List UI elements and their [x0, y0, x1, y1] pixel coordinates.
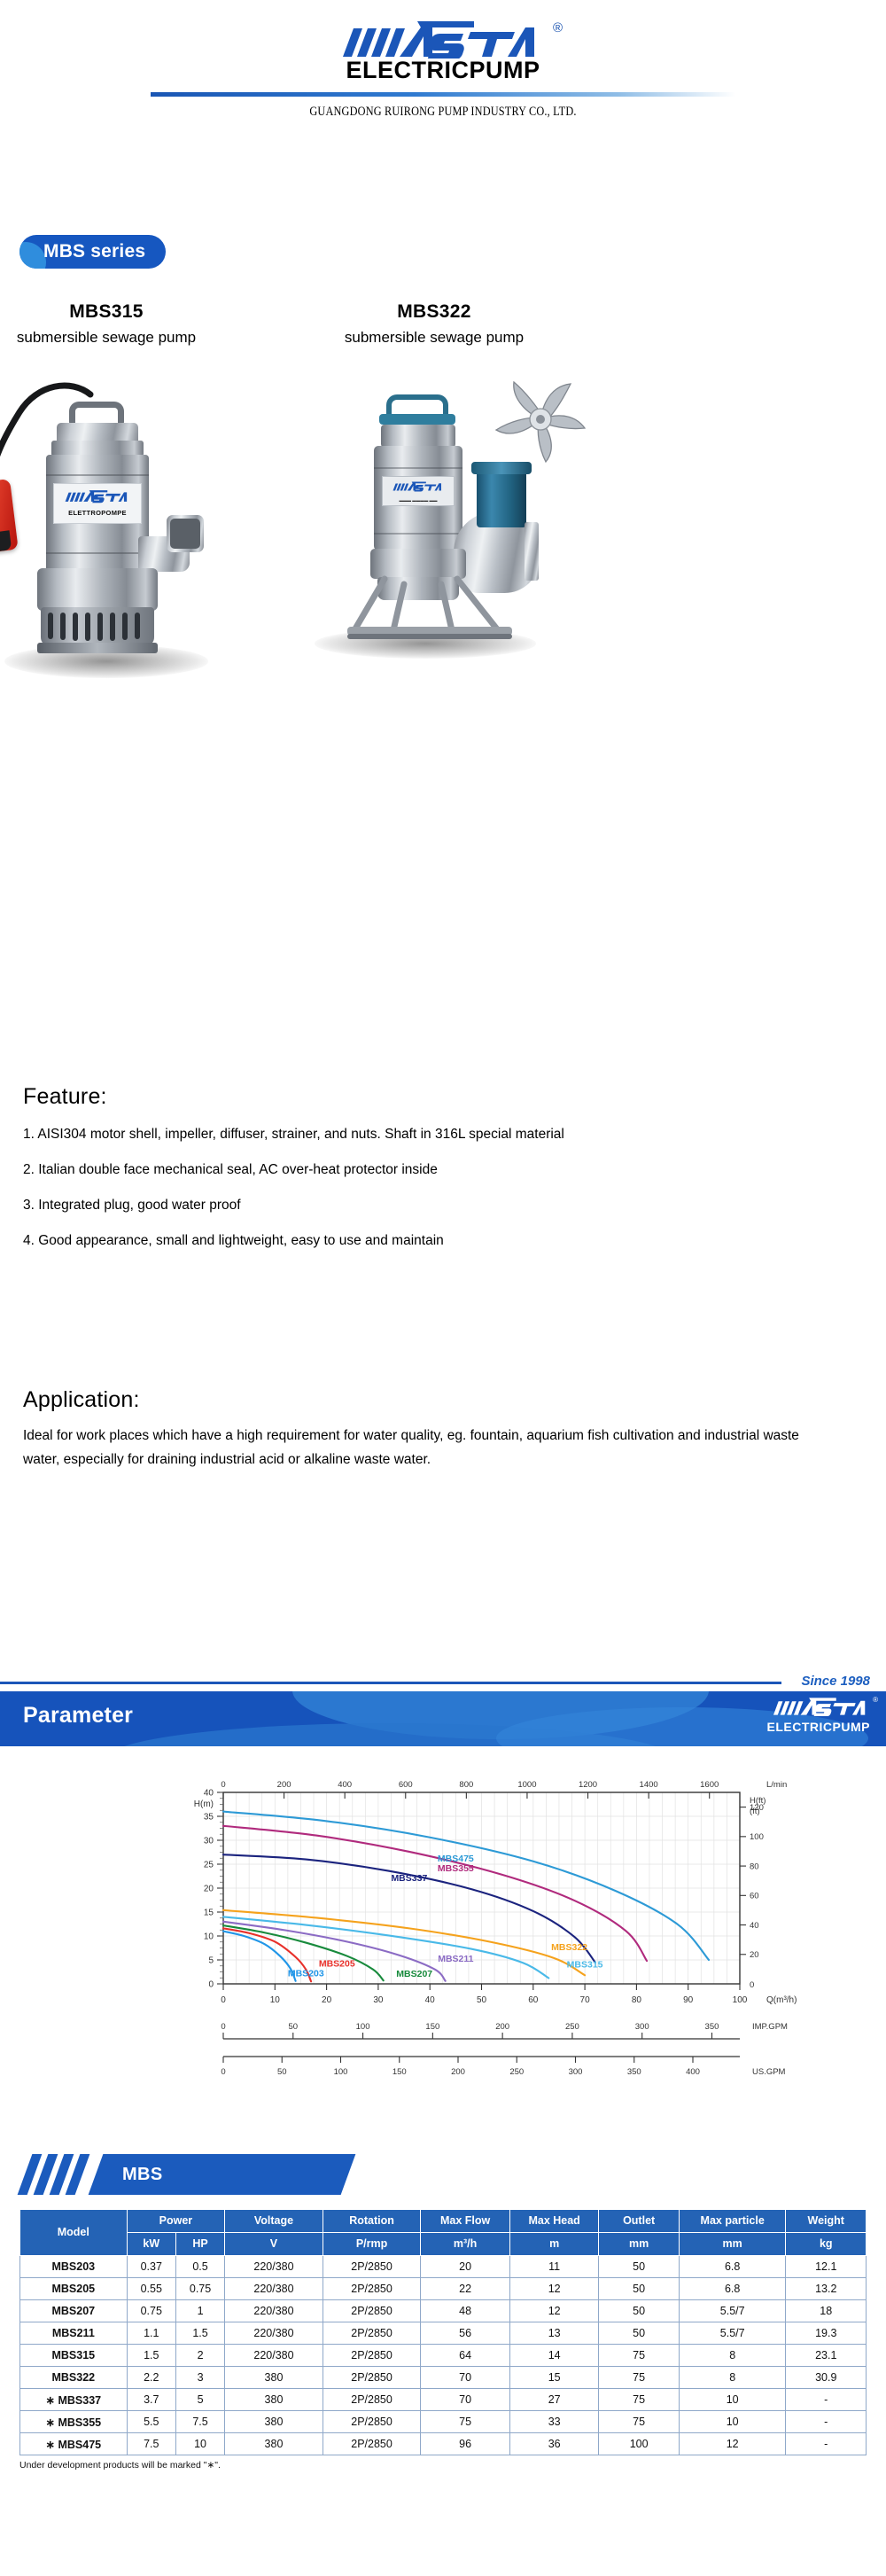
specs-table: ModelPowerVoltageRotationMax FlowMax Hea… [19, 2209, 867, 2455]
feature-item-1: 1. AISI304 motor shell, impeller, diffus… [23, 1123, 825, 1145]
table-cell: 2P/2850 [323, 2300, 421, 2322]
table-cell: 220/380 [225, 2256, 323, 2278]
carry-handle [69, 402, 124, 425]
table-cell: 70 [421, 2389, 510, 2411]
table-row: ∗ MBS4757.5103802P/2850963610012- [20, 2433, 867, 2455]
table-unit-header: m³/h [421, 2233, 510, 2256]
table-header-weight: Weight [786, 2210, 867, 2233]
chart-curve-mbs337 [223, 1854, 595, 1963]
table-header-model: Model [20, 2210, 128, 2256]
brand-subtitle: ELECTRICPUMP [341, 57, 545, 84]
table-cell: 7.5 [127, 2433, 175, 2455]
table-cell: 5.5 [127, 2411, 175, 2433]
table-cell-model: MBS203 [20, 2256, 128, 2278]
specs-table-wrapper: ModelPowerVoltageRotationMax FlowMax Hea… [19, 2209, 867, 2471]
table-cell: 56 [421, 2322, 510, 2345]
chart-label: US.GPM [752, 2067, 786, 2077]
registered-mark: ® [553, 21, 563, 35]
table-cell: 220/380 [225, 2322, 323, 2345]
table-cell: 8 [679, 2367, 786, 2389]
table-row: MBS2070.751220/3802P/28504812505.5/718 [20, 2300, 867, 2322]
chart-label: 0 [221, 2067, 225, 2077]
table-header-row-units: kWHPVP/rmpm³/hmmmmmkg [20, 2233, 867, 2256]
table-header-rotation: Rotation [323, 2210, 421, 2233]
table-cell: 380 [225, 2433, 323, 2455]
chart-label: 20 [204, 1884, 214, 1893]
chart-label: 100 [334, 2067, 348, 2077]
table-cell: 2P/2850 [323, 2433, 421, 2455]
table-header-max-head: Max Head [509, 2210, 599, 2233]
table-footnote: Under development products will be marke… [19, 2460, 867, 2471]
chart-label: 1600 [700, 1780, 719, 1790]
table-cell: 10 [679, 2411, 786, 2433]
specs-table-body: MBS2030.370.5220/3802P/28502011506.812.1… [20, 2256, 867, 2455]
table-cell: 2P/2850 [323, 2322, 421, 2345]
table-cell: 75 [599, 2345, 679, 2367]
application-text: Ideal for work places which have a high … [23, 1425, 825, 1471]
table-cell: 2P/2850 [323, 2278, 421, 2300]
table-cell: 36 [509, 2433, 599, 2455]
chart-label: 30 [373, 1995, 384, 2005]
table-cell: 13.2 [786, 2278, 867, 2300]
table-cell: 30.9 [786, 2367, 867, 2389]
table-cell: 64 [421, 2345, 510, 2367]
chart-series-label-mbs355: MBS355 [438, 1863, 474, 1874]
chart-label: 20 [322, 1995, 332, 2005]
table-unit-header: mm [599, 2233, 679, 2256]
chart-label: 300 [635, 2022, 649, 2032]
table-cell: 12 [509, 2278, 599, 2300]
chart-label: 400 [686, 2067, 700, 2077]
chart-label: 20 [750, 1950, 759, 1960]
since-label: Since 1998 [801, 1674, 870, 1689]
product-description: submersible sewage pump [0, 329, 275, 347]
strainer-slots-icon [41, 607, 154, 646]
table-cell-model: MBS322 [20, 2367, 128, 2389]
chart-label: Q(m³/h) [766, 1995, 797, 2005]
bail-base [379, 414, 455, 425]
product-image-mbs315: ELETTROPOMPE [0, 363, 275, 691]
table-cell: 19.3 [786, 2322, 867, 2345]
application-section: Application: Ideal for work places which… [23, 1387, 865, 1471]
table-cell-model: MBS205 [20, 2278, 128, 2300]
nameplate-lines: ▬▬▬ ▬▬▬▬ ▬▬ [383, 498, 454, 503]
motor-cap [57, 423, 138, 442]
table-cell: 50 [599, 2256, 679, 2278]
chart-series-label-mbs211: MBS211 [438, 1954, 473, 1964]
table-cell: 7.5 [175, 2411, 224, 2433]
table-cell: - [786, 2433, 867, 2455]
table-unit-header: kW [127, 2233, 175, 2256]
table-cell: 5.5/7 [679, 2322, 786, 2345]
table-cell: 5.5/7 [679, 2300, 786, 2322]
mastra-logo-icon [341, 20, 545, 59]
table-cell: 75 [599, 2411, 679, 2433]
chart-label: 5 [208, 1955, 214, 1965]
chart-label: (ft) [750, 1807, 760, 1816]
table-cell: 50 [599, 2322, 679, 2345]
table-cell: 10 [175, 2433, 224, 2455]
table-cell: - [786, 2389, 867, 2411]
discharge-flange [471, 462, 532, 474]
table-cell: 1 [175, 2300, 224, 2322]
table-row: MBS2111.11.5220/3802P/28505613505.5/719.… [20, 2322, 867, 2345]
product-label-plate: ▬▬▬ ▬▬▬▬ ▬▬ [382, 476, 455, 506]
table-unit-header: V [225, 2233, 323, 2256]
housing-seam-lower [374, 533, 462, 535]
table-cell: 10 [679, 2389, 786, 2411]
table-cell: 12 [679, 2433, 786, 2455]
chart-curve-mbs203 [223, 1932, 296, 1981]
table-header-power: Power [127, 2210, 225, 2233]
table-cell: 380 [225, 2411, 323, 2433]
table-cell: 6.8 [679, 2256, 786, 2278]
chart-series-label-mbs337: MBS337 [391, 1873, 427, 1884]
parameter-title: Parameter [23, 1703, 133, 1729]
series-badge: MBS series [19, 235, 166, 269]
table-cell: 0.37 [127, 2256, 175, 2278]
chart-label: 30 [204, 1836, 214, 1846]
housing-seam-lower [46, 552, 149, 554]
banner-logo: ® ELECTRICPUMP [767, 1697, 870, 1734]
chart-label: 70 [580, 1995, 591, 2005]
table-cell: 75 [421, 2411, 510, 2433]
product-label-plate: ELETTROPOMPE [53, 483, 142, 524]
table-header-row-groups: ModelPowerVoltageRotationMax FlowMax Hea… [20, 2210, 867, 2233]
table-cell: 48 [421, 2300, 510, 2322]
table-row: MBS2050.550.75220/3802P/28502212506.813.… [20, 2278, 867, 2300]
tag-stripes-icon [19, 2154, 90, 2195]
since-row: Since 1998 [0, 1674, 886, 1688]
table-cell: 70 [421, 2367, 510, 2389]
table-cell-model: ∗ MBS337 [20, 2389, 128, 2411]
table-row: ∗ MBS3373.753802P/285070277510- [20, 2389, 867, 2411]
table-cell: 14 [509, 2345, 599, 2367]
table-cell: 5 [175, 2389, 224, 2411]
table-section-tag: MBS [19, 2154, 374, 2195]
table-cell: 2P/2850 [323, 2389, 421, 2411]
table-header-voltage: Voltage [225, 2210, 323, 2233]
table-cell: 15 [509, 2367, 599, 2389]
table-cell: 1.5 [175, 2322, 224, 2345]
chart-label: 150 [425, 2022, 439, 2032]
chart-label: 40 [425, 1995, 436, 2005]
banner-logo-sub: ELECTRICPUMP [767, 1720, 870, 1734]
chart-label: IMP.GPM [752, 2022, 788, 2032]
chart-label: 400 [338, 1780, 352, 1790]
since-divider [0, 1682, 781, 1684]
performance-curve-svg: 02004006008001000120014001600L/min051015… [0, 1755, 886, 2083]
chart-label: 0 [221, 1780, 225, 1790]
feature-item-3: 3. Integrated plug, good water proof [23, 1194, 825, 1216]
performance-chart: 02004006008001000120014001600L/min051015… [0, 1755, 886, 2083]
product-card-mbs322: MBS322 submersible sewage pump [266, 301, 602, 691]
impeller-icon [487, 375, 594, 464]
chart-label: 25 [204, 1860, 214, 1870]
table-cell: 0.75 [127, 2300, 175, 2322]
base-ring [37, 643, 158, 653]
chart-label: 600 [399, 1780, 413, 1790]
outlet-bore [170, 519, 200, 549]
chart-series-label-mbs207: MBS207 [396, 1969, 432, 1979]
table-cell: 18 [786, 2300, 867, 2322]
chart-label: 35 [204, 1812, 214, 1822]
label-mastra-logo-icon [65, 488, 130, 503]
table-cell-model: MBS207 [20, 2300, 128, 2322]
company-name: GUANGDONG RUIRONG PUMP INDUSTRY CO., LTD… [80, 105, 806, 120]
table-cell: 220/380 [225, 2300, 323, 2322]
table-header-max-particle: Max particle [679, 2210, 786, 2233]
chart-label: 80 [750, 1862, 759, 1871]
motor-cap [381, 425, 455, 448]
specs-table-head: ModelPowerVoltageRotationMax FlowMax Hea… [20, 2210, 867, 2256]
chart-label: 200 [451, 2067, 465, 2077]
chart-label: 100 [750, 1832, 764, 1842]
product-model: MBS322 [266, 301, 602, 323]
table-cell-model: ∗ MBS475 [20, 2433, 128, 2455]
table-cell: 33 [509, 2411, 599, 2433]
table-row: MBS2030.370.5220/3802P/28502011506.812.1 [20, 2256, 867, 2278]
chart-label: 10 [270, 1995, 281, 2005]
table-header-max-flow: Max Flow [421, 2210, 510, 2233]
banner-registered-mark: ® [873, 1696, 878, 1704]
table-cell: 0.55 [127, 2278, 175, 2300]
chart-series-label-mbs205: MBS205 [319, 1959, 355, 1970]
chart-label: L/min [766, 1780, 787, 1790]
table-cell: 100 [599, 2433, 679, 2455]
housing-seam [374, 467, 462, 469]
table-unit-header: P/rmp [323, 2233, 421, 2256]
table-cell: 6.8 [679, 2278, 786, 2300]
chart-label: 0 [750, 1980, 754, 1990]
chart-series-label-mbs203: MBS203 [288, 1968, 324, 1979]
banner-mastra-logo-icon [773, 1697, 870, 1716]
table-cell: 380 [225, 2389, 323, 2411]
table-unit-header: m [509, 2233, 599, 2256]
chart-label: 250 [509, 2067, 524, 2077]
table-row: MBS3222.233802P/2850701575830.9 [20, 2367, 867, 2389]
chart-label: 350 [705, 2022, 719, 2032]
series-badge-label: MBS series [19, 235, 166, 269]
feature-section: Feature: 1. AISI304 motor shell, impelle… [23, 1084, 865, 1252]
chart-label: 100 [356, 2022, 370, 2032]
chart-curve-mbs355 [223, 1826, 647, 1961]
feature-title: Feature: [23, 1084, 865, 1110]
table-cell: 22 [421, 2278, 510, 2300]
chart-label: 50 [477, 1995, 487, 2005]
chart-label: 300 [569, 2067, 583, 2077]
table-cell: 50 [599, 2278, 679, 2300]
table-cell: 2P/2850 [323, 2256, 421, 2278]
table-cell: 50 [599, 2300, 679, 2322]
table-cell: 2P/2850 [323, 2345, 421, 2367]
chart-label: 0 [221, 2022, 225, 2032]
lifting-bail [386, 394, 448, 416]
table-cell: 2 [175, 2345, 224, 2367]
table-row: MBS3151.52220/3802P/2850641475823.1 [20, 2345, 867, 2367]
chart-label: 200 [277, 1780, 291, 1790]
chart-label: 1400 [640, 1780, 658, 1790]
table-cell: 11 [509, 2256, 599, 2278]
chart-label: 150 [392, 2067, 407, 2077]
parameter-banner: Parameter ® ELECTRICPUMP [0, 1691, 886, 1746]
table-cell: 3.7 [127, 2389, 175, 2411]
brand-logo: ® ELECTRICPUMP [341, 20, 545, 84]
table-cell: 0.75 [175, 2278, 224, 2300]
product-model: MBS315 [0, 301, 275, 323]
pump-volute [37, 568, 158, 611]
table-cell: 1.5 [127, 2345, 175, 2367]
table-cell: 3 [175, 2367, 224, 2389]
table-cell: 20 [421, 2256, 510, 2278]
label-mastra-logo-icon [392, 480, 444, 492]
table-cell: 12.1 [786, 2256, 867, 2278]
table-cell: 220/380 [225, 2345, 323, 2367]
product-description: submersible sewage pump [266, 329, 602, 347]
chart-label: 350 [627, 2067, 641, 2077]
product-image-mbs322: ▬▬▬ ▬▬▬▬ ▬▬ [266, 363, 602, 691]
chart-label: H(ft) [750, 1796, 766, 1806]
label-sub-text: ELETTROPOMPE [54, 509, 141, 517]
table-unit-header: mm [679, 2233, 786, 2256]
chart-label: 0 [208, 1979, 214, 1989]
chart-label: 60 [750, 1892, 759, 1901]
chart-series-label-mbs315: MBS315 [567, 1960, 603, 1971]
table-cell: 2.2 [127, 2367, 175, 2389]
feature-item-4: 4. Good appearance, small and lightweigh… [23, 1229, 825, 1252]
chart-label: 200 [495, 2022, 509, 2032]
application-title: Application: [23, 1387, 865, 1413]
table-row: ∗ MBS3555.57.53802P/285075337510- [20, 2411, 867, 2433]
table-cell-model: MBS315 [20, 2345, 128, 2367]
chart-label: 1200 [579, 1780, 597, 1790]
table-cell: 13 [509, 2322, 599, 2345]
table-cell: 23.1 [786, 2345, 867, 2367]
suction-strainer [41, 607, 154, 646]
table-cell: 380 [225, 2367, 323, 2389]
table-unit-header: HP [175, 2233, 224, 2256]
chart-label: 50 [288, 2022, 298, 2032]
table-cell-model: MBS211 [20, 2322, 128, 2345]
chart-label: 50 [277, 2067, 287, 2077]
chart-label: H(m) [194, 1799, 214, 1809]
table-cell: 12 [509, 2300, 599, 2322]
product-card-mbs315: MBS315 submersible sewage pump [0, 301, 275, 691]
chart-series-label-mbs475: MBS475 [438, 1854, 474, 1864]
chart-label: 40 [204, 1788, 214, 1798]
housing-seam [46, 474, 149, 476]
table-cell: 220/380 [225, 2278, 323, 2300]
chart-label: 1000 [517, 1780, 536, 1790]
table-header-outlet: Outlet [599, 2210, 679, 2233]
chart-label: 10 [204, 1932, 214, 1941]
table-unit-header: kg [786, 2233, 867, 2256]
chart-label: 15 [204, 1908, 214, 1917]
chart-label: 800 [459, 1780, 473, 1790]
table-cell: 0.5 [175, 2256, 224, 2278]
chart-label: 100 [733, 1995, 748, 2005]
table-cell: 8 [679, 2345, 786, 2367]
chart-label: 60 [528, 1995, 539, 2005]
chart-series-label-mbs322: MBS322 [551, 1942, 587, 1953]
discharge-pipe [477, 469, 526, 527]
chart-label: 80 [632, 1995, 642, 2005]
chart-label: 40 [750, 1921, 759, 1931]
table-cell: 2P/2850 [323, 2411, 421, 2433]
support-stand-icon [342, 572, 555, 648]
chart-label: 0 [221, 1995, 226, 2005]
table-cell: 27 [509, 2389, 599, 2411]
table-cell: - [786, 2411, 867, 2433]
feature-item-2: 2. Italian double face mechanical seal, … [23, 1159, 825, 1181]
table-cell: 75 [599, 2389, 679, 2411]
table-cell: 96 [421, 2433, 510, 2455]
tag-label: MBS [122, 2154, 163, 2195]
table-cell: 2P/2850 [323, 2367, 421, 2389]
chart-label: 250 [565, 2022, 579, 2032]
table-cell-model: ∗ MBS355 [20, 2411, 128, 2433]
chart-label: 90 [683, 1995, 694, 2005]
table-cell: 75 [599, 2367, 679, 2389]
table-cell: 1.1 [127, 2322, 175, 2345]
header-divider [151, 92, 735, 97]
page-header: ® ELECTRICPUMP GUANGDONG RUIRONG PUMP IN… [0, 0, 886, 120]
